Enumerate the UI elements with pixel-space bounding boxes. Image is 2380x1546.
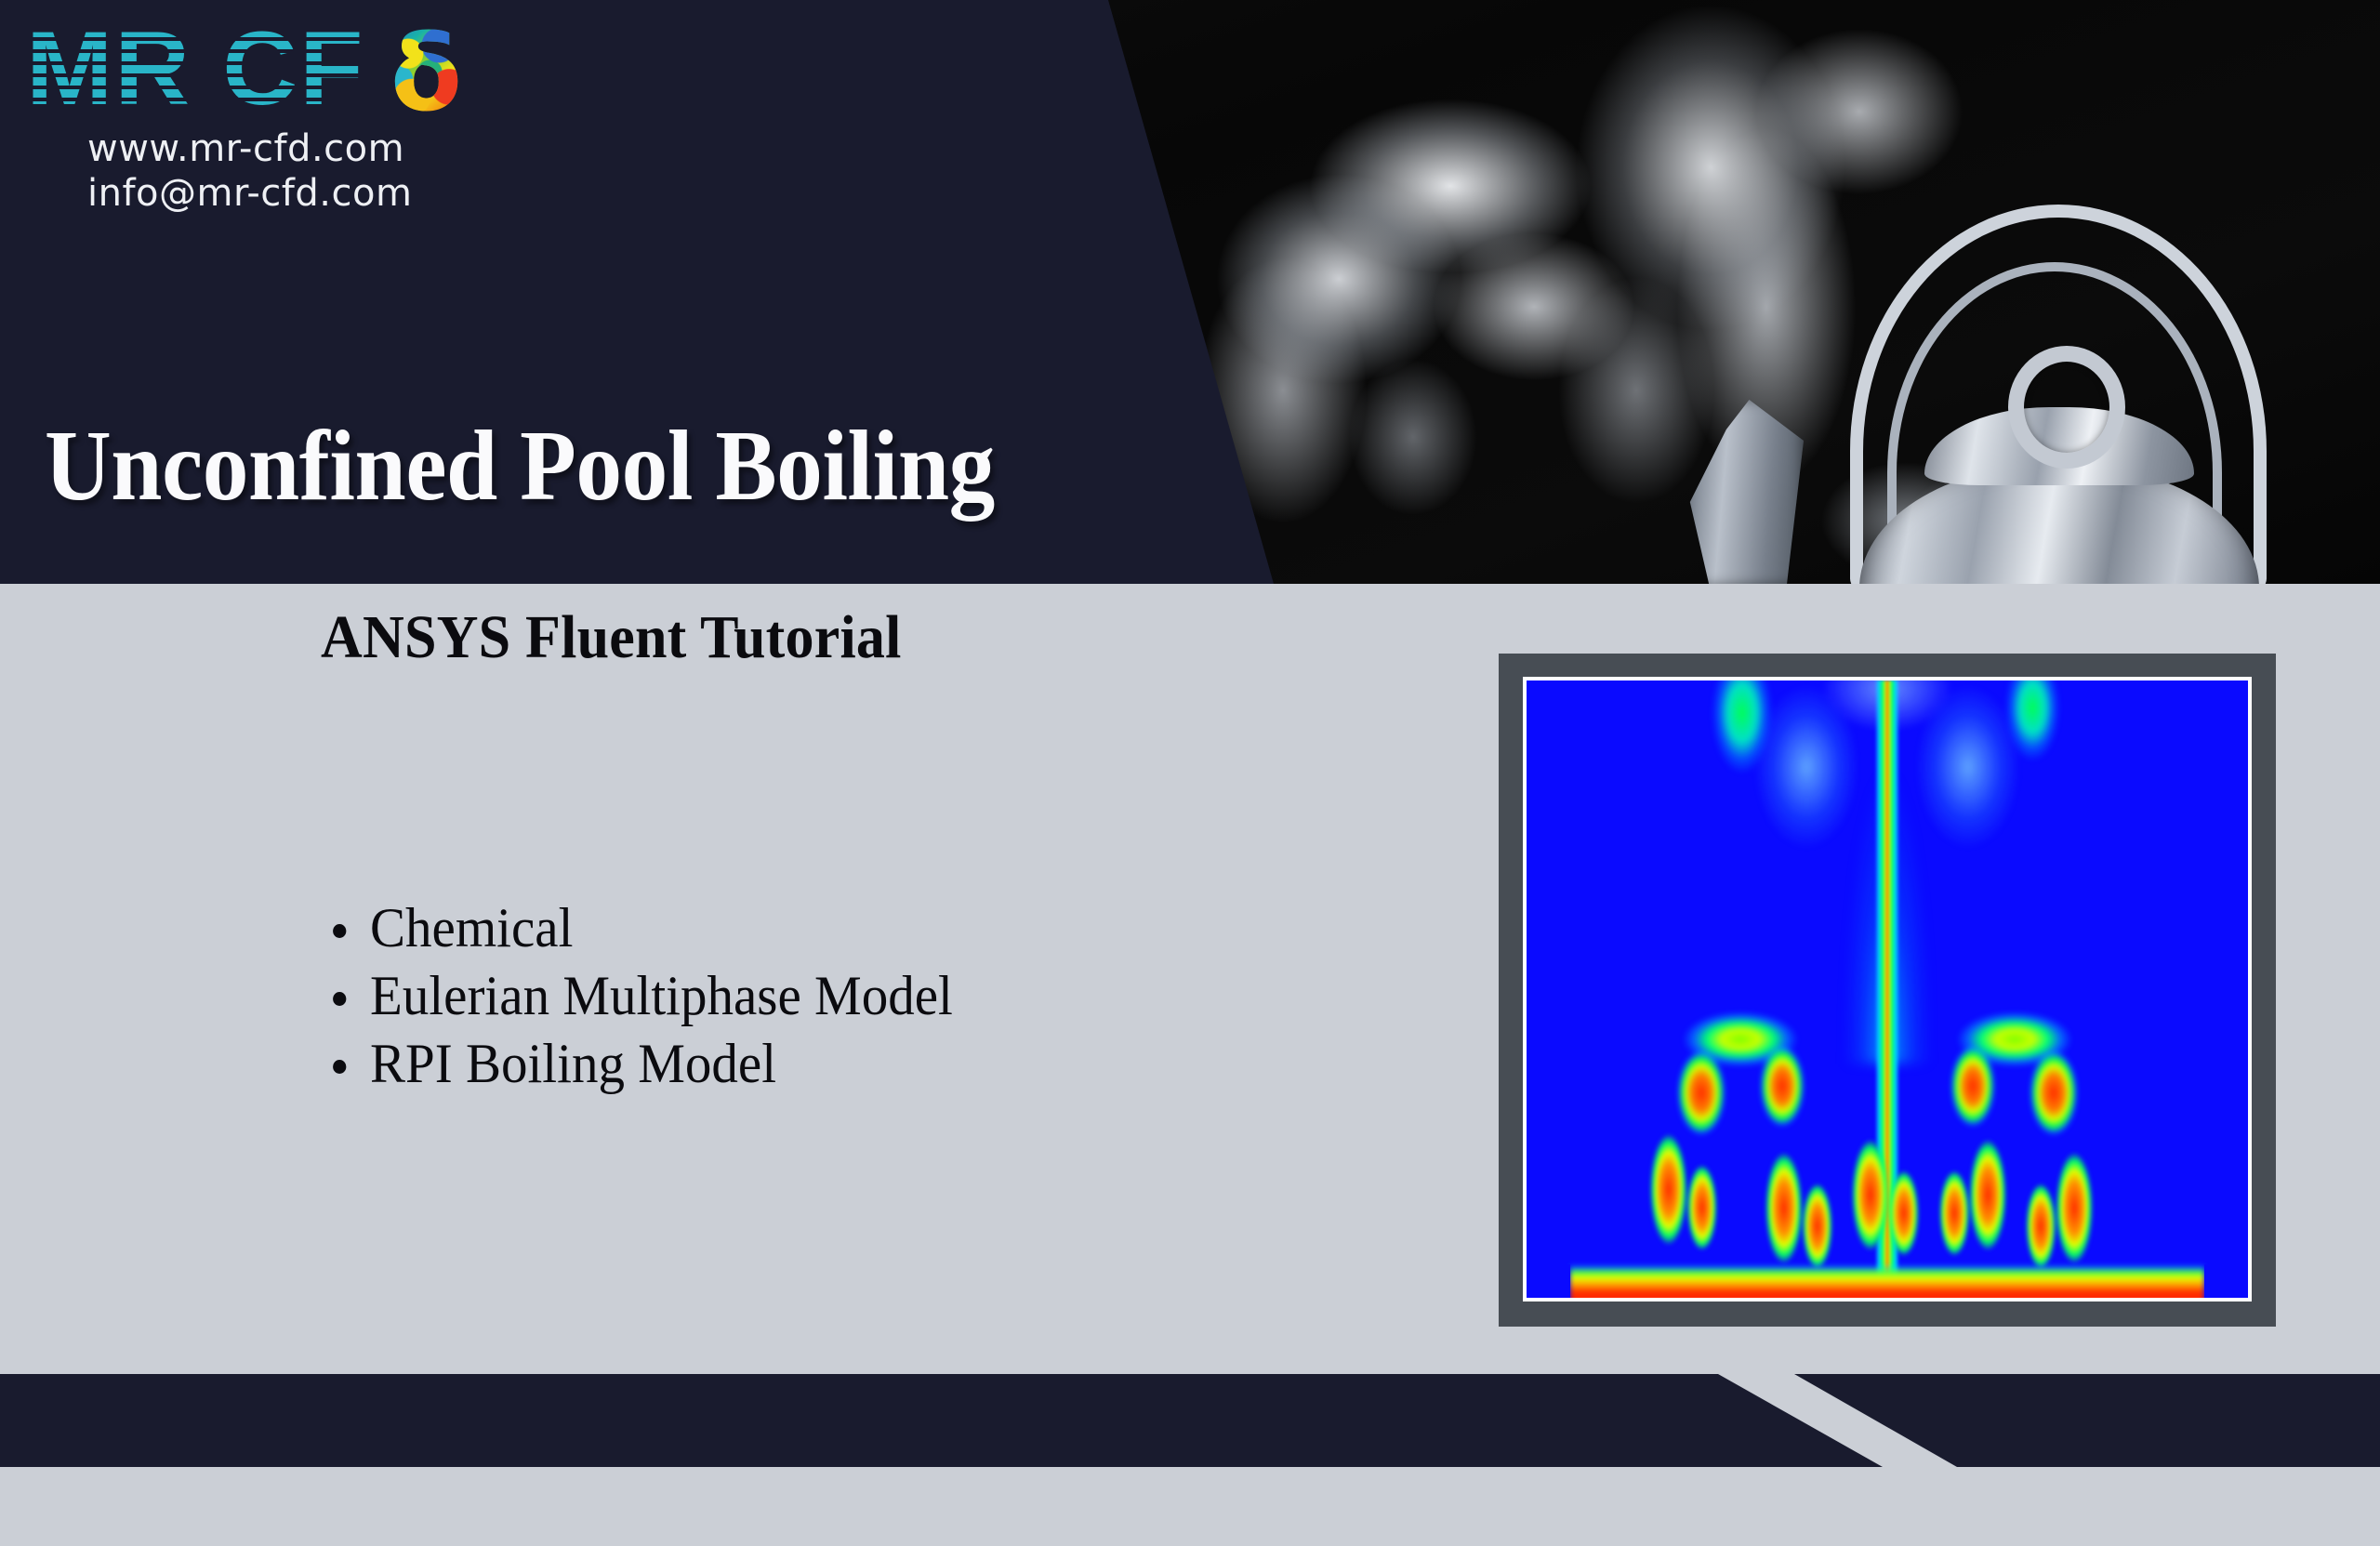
bottom-band-right (1794, 1374, 2380, 1467)
logo-wordmark: MR CF (26, 17, 365, 121)
subtitle: ANSYS Fluent Tutorial (321, 602, 902, 673)
poster-canvas: MR CF δ www.mr-cfd.com info@mr-cfd.com U… (0, 0, 2380, 1546)
brand-contact: www.mr-cfd.com info@mr-cfd.com (26, 126, 463, 216)
brand-logo[interactable]: MR CF δ www.mr-cfd.com info@mr-cfd.com (26, 17, 463, 216)
feature-list: Chemical Eulerian Multiphase Model RPI B… (325, 894, 984, 1098)
bubble-finger (1931, 1118, 2015, 1258)
bubble-finger (1844, 1118, 1927, 1258)
list-item: RPI Boiling Model (370, 1030, 953, 1097)
list-item: Eulerian Multiphase Model (370, 962, 953, 1029)
cfd-figure-inner-border (1523, 677, 2252, 1302)
page-title: Unconfined Pool Boiling (45, 413, 995, 521)
cfd-contour-plot (1527, 681, 2248, 1298)
wall-edge-mask-left (1527, 1264, 1570, 1298)
delta-cfd-contour-icon: δ (390, 22, 462, 126)
kettle-knob-icon (2008, 346, 2125, 469)
bottom-band-left (0, 1374, 1887, 1467)
heated-bottom-wall (1570, 1264, 2205, 1298)
bubble-finger (1642, 1113, 1725, 1252)
list-item: Chemical (370, 894, 953, 961)
kettle-spout-icon (1683, 400, 1804, 584)
logo-mark: MR CF δ (26, 17, 461, 121)
cfd-figure-frame (1499, 654, 2276, 1327)
bubble-finger (1757, 1131, 1841, 1271)
brand-email[interactable]: info@mr-cfd.com (87, 171, 463, 216)
bubble-finger (2017, 1131, 2101, 1271)
wall-edge-mask-right (2204, 1264, 2248, 1298)
